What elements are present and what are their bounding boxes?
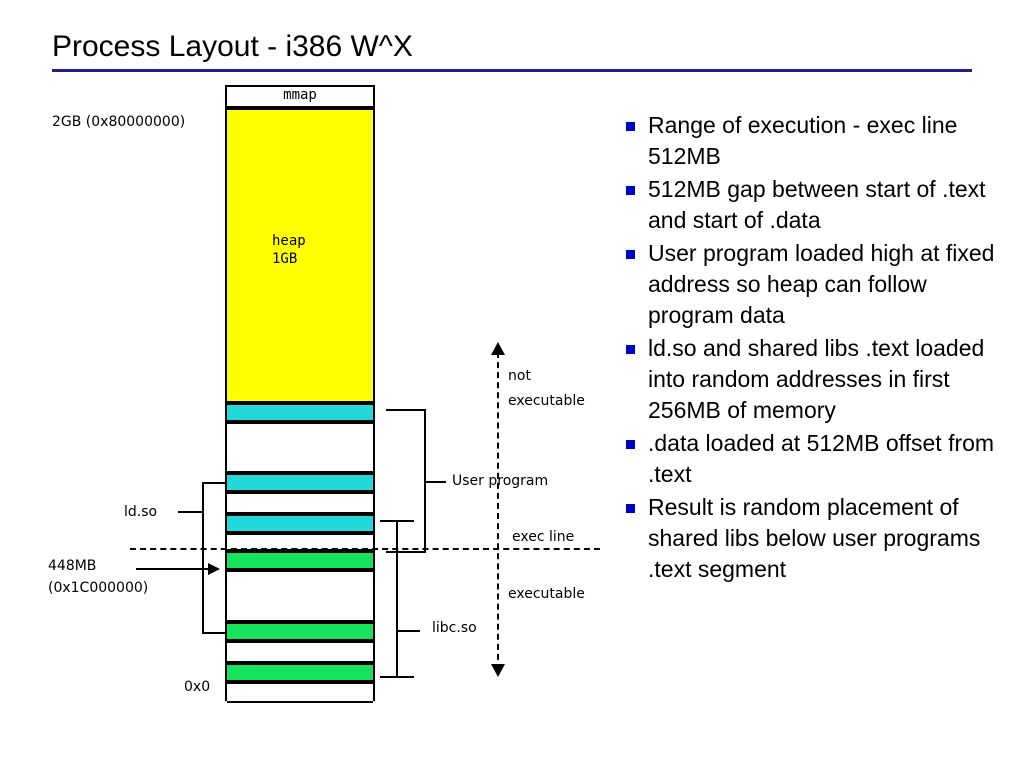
ldso-bracket-stem	[178, 511, 202, 513]
memory-block-text-seg-3	[227, 663, 373, 682]
memory-layout-bar	[225, 85, 375, 701]
not-executable-label-line1: not	[508, 368, 531, 384]
userprogram-label: User program	[452, 473, 548, 489]
heap-label: heap 1GB	[272, 232, 306, 268]
memory-block-data-seg-2	[227, 473, 373, 492]
bullet-square-icon	[626, 122, 635, 131]
address-label-top: 2GB (0x80000000)	[52, 114, 185, 130]
memory-block-gap-1	[227, 422, 373, 473]
mmap-label: mmap	[225, 87, 375, 103]
libcso-bracket-bottom-arm	[380, 676, 414, 678]
bullet-square-icon	[626, 440, 635, 449]
bullet-item: ld.so and shared libs .text loaded into …	[624, 333, 1004, 426]
ldso-bracket-bottom-arm	[202, 632, 226, 634]
bullet-square-icon	[626, 186, 635, 195]
address-label-448mb: 448MB	[48, 558, 96, 574]
bullet-list: Range of execution - exec line 512MB512M…	[624, 110, 1004, 587]
bullet-square-icon	[626, 250, 635, 259]
bullet-item: Range of execution - exec line 512MB	[624, 110, 1004, 172]
userprogram-bracket-top-arm	[386, 409, 426, 411]
libcso-bracket-spine	[396, 520, 398, 678]
page-title: Process Layout - i386 W^X	[52, 30, 972, 64]
address-pointer-line	[136, 568, 212, 570]
bullet-item: Result is random placement of shared lib…	[624, 492, 1004, 585]
bullet-square-icon	[626, 345, 635, 354]
bullet-item: User program loaded high at fixed addres…	[624, 238, 1004, 331]
memory-block-gap-4	[227, 570, 373, 622]
libcso-bracket-stem	[396, 630, 420, 632]
heap-size: 1GB	[272, 250, 306, 268]
bullet-text: ld.so and shared libs .text loaded into …	[648, 335, 984, 423]
memory-block-data-seg-3	[227, 514, 373, 533]
executable-label: executable	[508, 586, 585, 602]
memory-block-text-seg-2	[227, 622, 373, 641]
libcso-label: libc.so	[432, 620, 477, 636]
ldso-label: ld.so	[124, 504, 157, 520]
bullet-text: Range of execution - exec line 512MB	[648, 112, 957, 169]
bullet-text: Result is random placement of shared lib…	[648, 494, 980, 582]
ldso-bracket-spine	[202, 482, 204, 634]
memory-block-gap-6	[227, 682, 373, 703]
userprogram-bracket-stem	[424, 481, 446, 483]
address-label-bottom: 0x0	[184, 679, 210, 695]
bullet-text: User program loaded high at fixed addres…	[648, 240, 994, 328]
bullet-text: 512MB gap between start of .text and sta…	[648, 176, 986, 233]
memory-block-gap-2	[227, 492, 373, 514]
executability-axis-arrow-down-icon	[491, 664, 505, 677]
executability-axis-arrow-up-icon	[491, 342, 505, 355]
exec-line-label: exec line	[512, 529, 574, 545]
title-divider	[52, 69, 972, 72]
libcso-bracket-top-arm	[380, 520, 414, 522]
heap-name: heap	[272, 232, 306, 250]
bullet-item: 512MB gap between start of .text and sta…	[624, 174, 1004, 236]
not-executable-label-line2: executable	[508, 393, 585, 409]
bullet-item: .data loaded at 512MB offset from .text	[624, 428, 1004, 490]
memory-block-text-seg-1	[227, 551, 373, 570]
exec-line-dashed	[130, 548, 600, 550]
address-pointer-arrowhead	[208, 563, 220, 575]
address-label-448mb-hex: (0x1C000000)	[48, 580, 148, 596]
bullet-text: .data loaded at 512MB offset from .text	[648, 430, 994, 487]
userprogram-bracket-bottom-arm	[386, 551, 426, 553]
executability-axis	[497, 352, 499, 670]
ldso-bracket-top-arm	[202, 482, 226, 484]
memory-block-gap-5	[227, 641, 373, 663]
memory-block-data-seg-1	[227, 403, 373, 422]
bullet-square-icon	[626, 504, 635, 513]
